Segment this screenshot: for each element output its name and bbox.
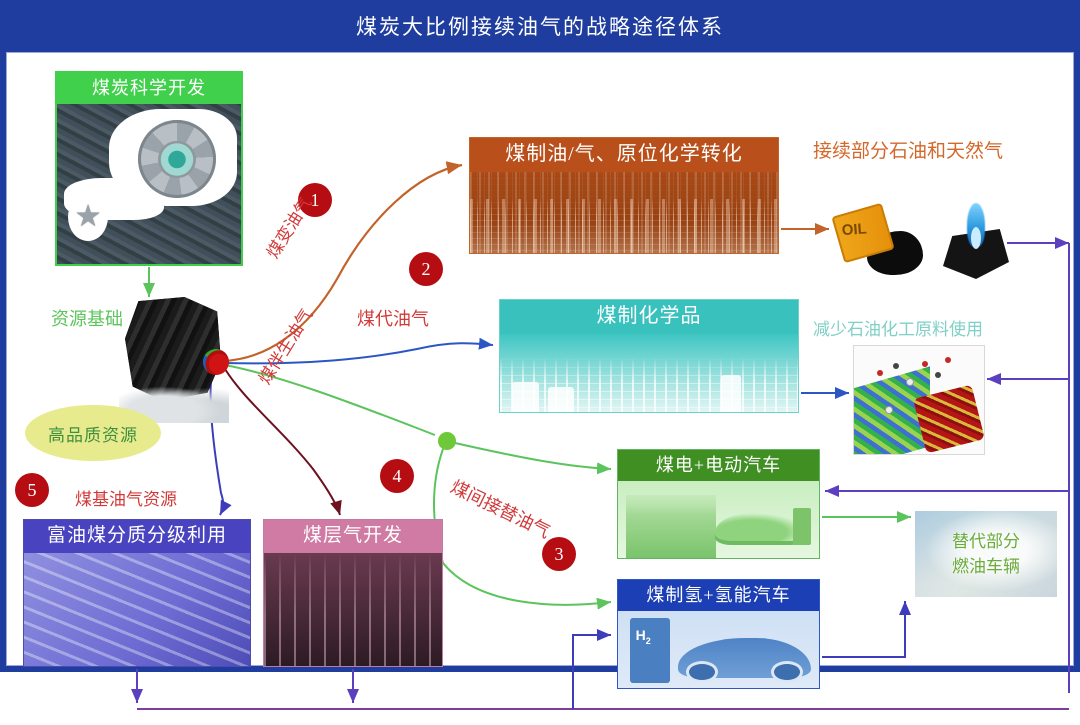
label-coal-based-oil-gas-resource: 煤基油气资源 — [75, 485, 177, 510]
hydrogen-pump-icon: H2 — [630, 618, 670, 684]
step-badge-4[interactable]: 4 — [380, 459, 414, 493]
image-chemical-plant-teal — [500, 334, 798, 413]
arrow-h2-to-alt — [822, 601, 905, 657]
arrow-greenhub-to-ev — [455, 443, 611, 469]
box-caption-ev: 煤电+电动汽车 — [618, 450, 819, 481]
alternative-fuel-vehicle-image: 替代部分 燃油车辆 — [915, 511, 1057, 597]
box-caption-chem: 煤制化学品 — [500, 300, 798, 334]
box-coal-hydrogen-vehicle[interactable]: 煤制氢+氢能汽车 H2 — [617, 579, 820, 689]
h2-label: H2 — [636, 627, 651, 646]
label-succeed-part-oil-gas: 接续部分石油和天然气 — [813, 136, 1003, 163]
box-coalbed-methane[interactable]: 煤层气开发 — [263, 519, 443, 667]
box-caption-ctl: 煤制油/气、原位化学转化 — [470, 138, 778, 172]
image-coal-mining: ★ — [57, 104, 241, 265]
image-power-plant-ev — [618, 481, 819, 559]
oil-barrel-image: OIL — [833, 207, 925, 283]
high-quality-resource-label: 高品质资源 — [48, 421, 138, 446]
box-caption-rich-coal: 富油煤分质分级利用 — [24, 520, 250, 553]
image-hydrogen-station: H2 — [618, 611, 819, 689]
label-coal-substitute-oil-gas: 煤代油气 — [357, 305, 429, 331]
label-coal-indirect-replace-oil-gas: 煤间接替油气 — [447, 473, 555, 544]
box-coal-power-electric-vehicle[interactable]: 煤电+电动汽车 — [617, 449, 820, 559]
high-quality-resource-pill: 高品质资源 — [25, 405, 161, 461]
step-badge-5[interactable]: 5 — [15, 473, 49, 507]
gear-icon — [138, 120, 216, 198]
box-caption-coal-dev: 煤炭科学开发 — [57, 73, 241, 104]
image-cbm-plant-pink — [264, 553, 442, 667]
image-industrial-park-purple — [24, 553, 250, 667]
alt-vehicle-label-line1: 替代部分 — [952, 529, 1020, 555]
oil-barrel-text: OIL — [841, 220, 867, 239]
box-coal-scientific-development[interactable]: 煤炭科学开发 ★ — [55, 71, 243, 266]
label-coal-to-oil-gas: 煤变油气 — [259, 191, 316, 262]
box-caption-cbm: 煤层气开发 — [264, 520, 442, 553]
gas-stove-image — [937, 203, 1019, 287]
box-coal-chemicals[interactable]: 煤制化学品 — [499, 299, 799, 413]
label-reduce-petrochemical-feedstock: 减少石油化工原料使用 — [813, 315, 983, 340]
step-badge-2[interactable]: 2 — [409, 252, 443, 286]
diagram-canvas: 煤炭科学开发 ★ 煤制油/气、原位化学转化 煤制化学品 — [6, 52, 1074, 666]
box-coal-to-liquids[interactable]: 煤制油/气、原位化学转化 — [469, 137, 779, 254]
arrow-coal-to-cbm — [225, 369, 340, 515]
star-icon: ★ — [68, 193, 108, 241]
label-resource-base: 资源基础 — [51, 305, 123, 331]
box-rich-oil-coal-utilization[interactable]: 富油煤分质分级利用 — [23, 519, 251, 667]
molecular-simulation-image — [853, 345, 985, 455]
coal-source-hub-node — [203, 349, 229, 375]
label-coal-associated-oil-gas: 煤伴生油气 — [251, 303, 317, 388]
bus-h2-branch — [573, 635, 611, 709]
green-split-node — [438, 432, 456, 450]
image-refinery-orange — [470, 172, 778, 254]
page-title: 煤炭大比例接续油气的战略途径体系 — [0, 0, 1080, 52]
box-caption-h2: 煤制氢+氢能汽车 — [618, 580, 819, 611]
step-badge-3[interactable]: 3 — [542, 537, 576, 571]
alt-vehicle-label-line2: 燃油车辆 — [952, 554, 1020, 580]
diagram-root: 煤炭大比例接续油气的战略途径体系 — [0, 0, 1080, 672]
